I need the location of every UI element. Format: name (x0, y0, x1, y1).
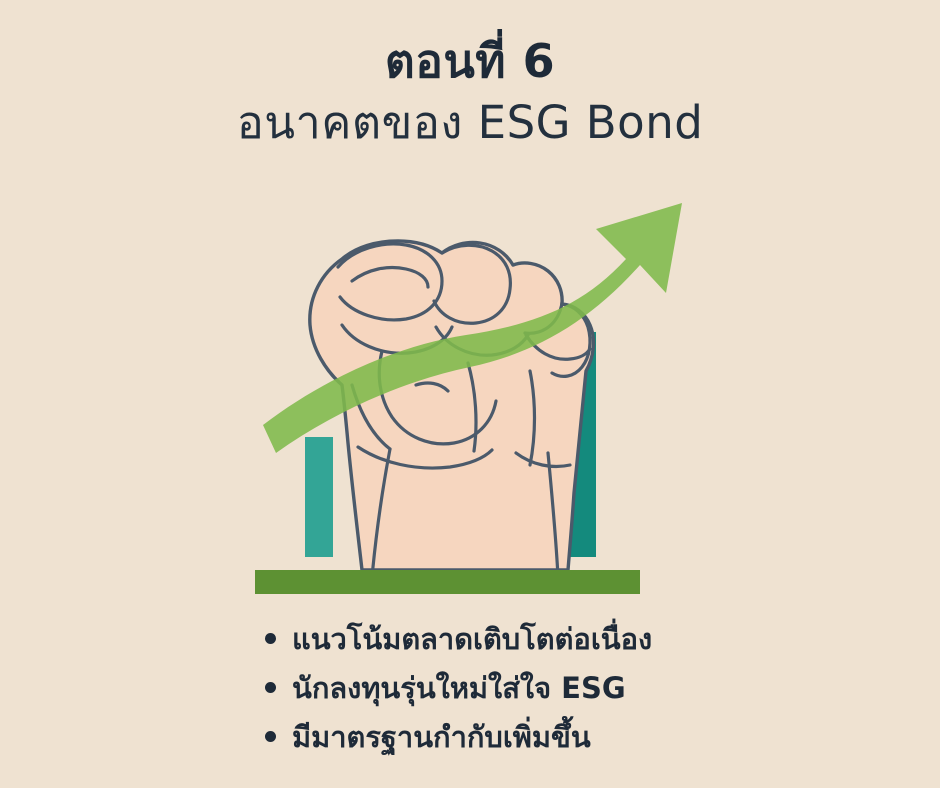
fist-growth-chart-illustration (230, 185, 710, 605)
fist-illustration (310, 241, 594, 577)
list-item: นักลงทุนรุ่นใหม่ใส่ใจ ESG (235, 667, 705, 710)
chart-base-bar (255, 570, 640, 594)
bullet-dot-icon (265, 682, 276, 693)
bullet-item-label: แนวโน้มตลาดเติบโตต่อเนื่อง (292, 618, 652, 661)
bullet-dot-icon (265, 731, 276, 742)
heading-block: ตอนที่ 6 อนาคตของ ESG Bond (0, 36, 940, 149)
infographic-slide: ตอนที่ 6 อนาคตของ ESG Bond (0, 0, 940, 788)
list-item: แนวโน้มตลาดเติบโตต่อเนื่อง (235, 618, 705, 661)
page-title-episode: ตอนที่ 6 (0, 36, 940, 88)
bullet-list: แนวโน้มตลาดเติบโตต่อเนื่อง นักลงทุนรุ่นใ… (0, 618, 940, 765)
bullet-item-label: มีมาตรฐานกำกับเพิ่มขึ้น (292, 716, 591, 759)
bullet-item-label: นักลงทุนรุ่นใหม่ใส่ใจ ESG (292, 667, 626, 710)
chart-bar-1 (305, 437, 333, 557)
list-item: มีมาตรฐานกำกับเพิ่มขึ้น (235, 716, 705, 759)
page-title-subject: อนาคตของ ESG Bond (0, 96, 940, 149)
bullet-dot-icon (265, 633, 276, 644)
illustration-svg (230, 185, 710, 605)
